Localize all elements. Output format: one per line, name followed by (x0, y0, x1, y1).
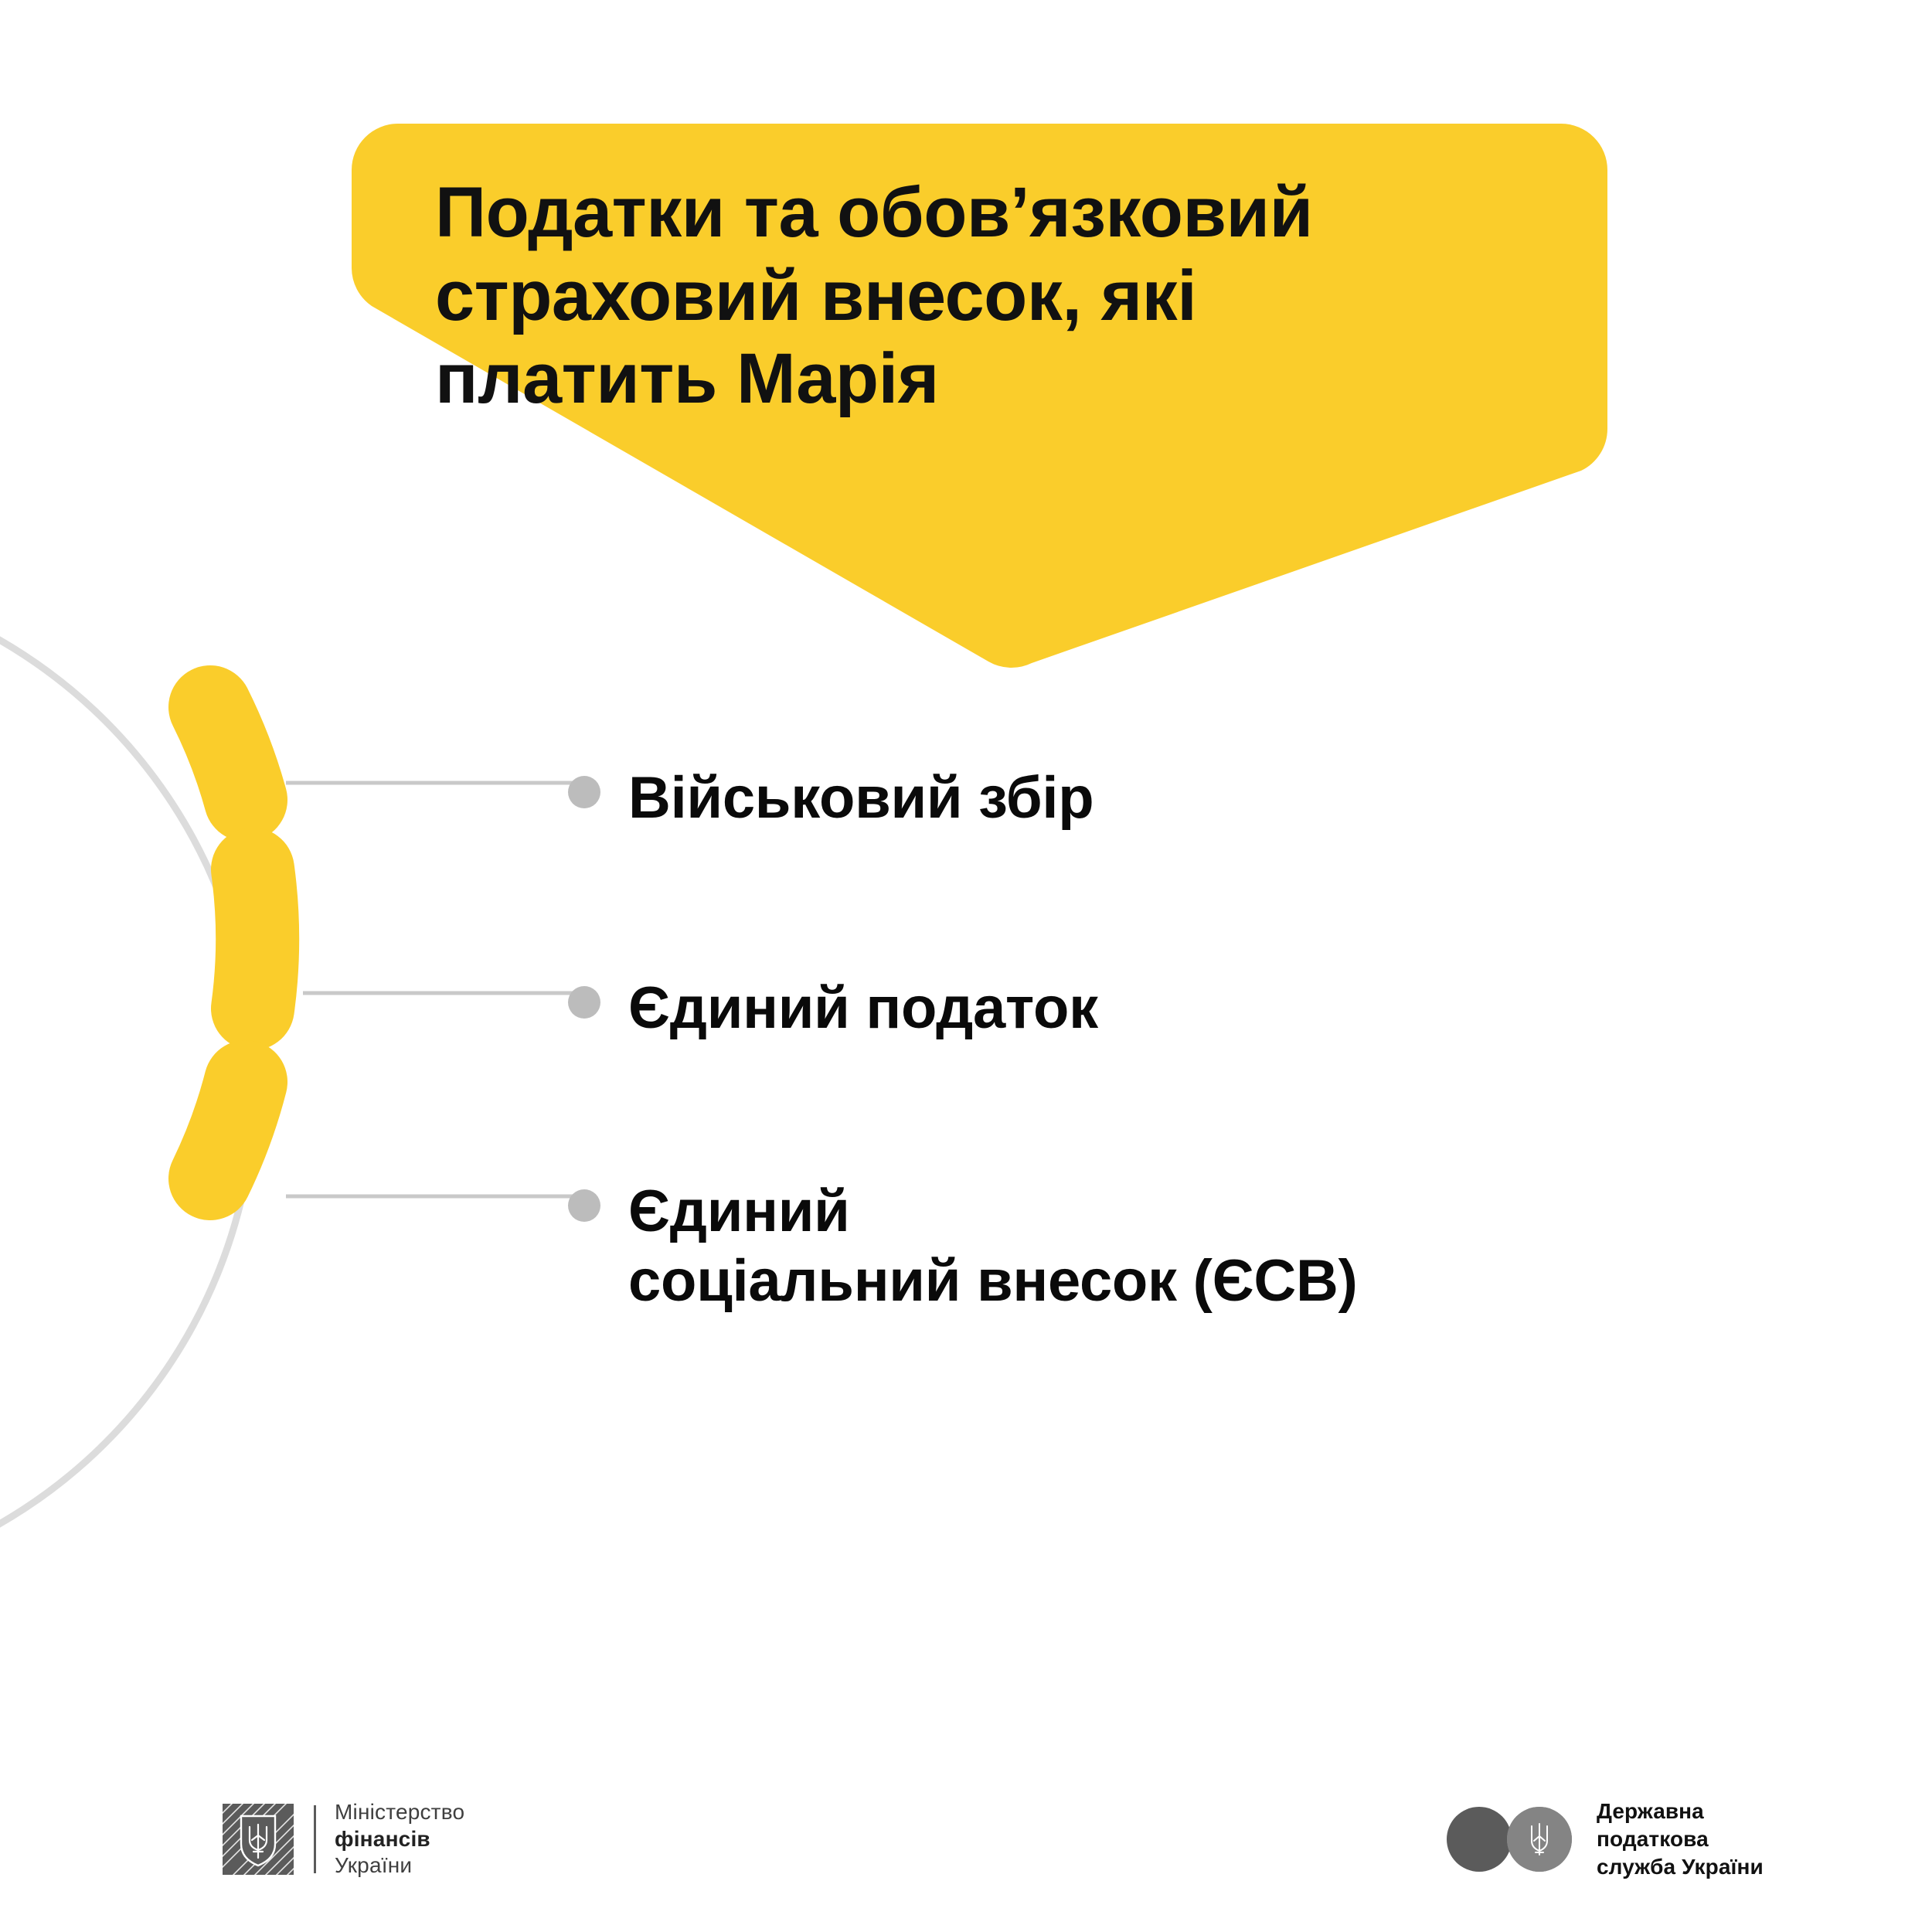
arc-yellow-segments (210, 707, 257, 1179)
list-item[interactable]: Військовий збір (568, 764, 1094, 833)
arc-circle-outline (0, 572, 255, 1592)
bullet-dot-icon (568, 1189, 600, 1222)
tax-logo-circle-dark (1447, 1807, 1512, 1872)
connector-lines (286, 783, 587, 1196)
list-item-label: Військовий збір (628, 764, 1094, 833)
arc-segment-2 (253, 869, 257, 1009)
arc-segment-3 (210, 1082, 246, 1179)
title-speech-bubble: Податки та обов’язковий страховий внесок… (352, 124, 1619, 672)
state-tax-service-logo[interactable]: Державна податкова служба України (1447, 1798, 1764, 1880)
list-item[interactable]: Єдиний соціальний внесок (ЄСВ) (568, 1177, 1358, 1315)
arc-segment-1 (210, 707, 246, 800)
minfin-line-2: фінансів (335, 1826, 464, 1853)
bullet-dot-icon (568, 776, 600, 808)
bubble-title-text: Податки та обов’язковий страховий внесок… (435, 172, 1563, 421)
ukraine-trident-icon (1507, 1807, 1572, 1872)
state-tax-service-label: Державна податкова служба України (1597, 1798, 1764, 1880)
ministry-of-finance-label: Міністерство фінансів України (335, 1799, 464, 1879)
list-item-label: Єдиний податок (628, 974, 1098, 1043)
minfin-line-1: Міністерство (335, 1799, 464, 1826)
ministry-of-finance-logo[interactable]: Міністерство фінансів України (223, 1799, 464, 1879)
logo-divider (314, 1805, 316, 1873)
slide-canvas: Податки та обов’язковий страховий внесок… (0, 0, 1932, 1932)
bullet-dot-icon (568, 986, 600, 1019)
list-item[interactable]: Єдиний податок (568, 974, 1098, 1043)
ukraine-trident-shield-icon (223, 1804, 294, 1875)
footer: Міністерство фінансів України (0, 1777, 1932, 1932)
list-item-label: Єдиний соціальний внесок (ЄСВ) (628, 1177, 1358, 1315)
minfin-line-3: України (335, 1852, 464, 1879)
